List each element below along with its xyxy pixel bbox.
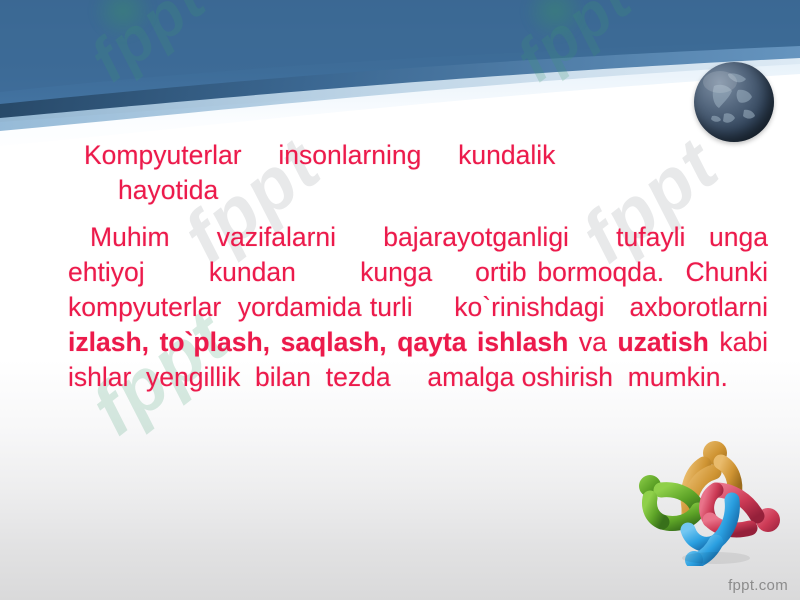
body-paragraph: Muhim vazifalarni bajarayotganligi tufay… — [68, 220, 768, 395]
heading-line-1: Kompyuterlar insonlarning kundalik — [84, 140, 555, 170]
heading-line-2: hayotida — [68, 173, 768, 208]
slide-body-text: Kompyuterlar insonlarning kundalikhayoti… — [68, 138, 768, 395]
body-segment-2: va — [568, 327, 617, 357]
body-bold-2: uzatish — [618, 327, 709, 357]
body-segment-1: Muhim vazifalarni bajarayotganligi tufay… — [68, 222, 800, 322]
fppt-watermark: fppt.com — [728, 577, 788, 594]
body-bold-1: izlash, to`plash, saqlash, qayta ishlash — [68, 327, 568, 357]
heading-paragraph: Kompyuterlar insonlarning kundalikhayoti… — [68, 138, 768, 208]
globe-icon — [694, 62, 774, 142]
slide-header-banner — [0, 0, 800, 160]
interlocking-people-logo — [636, 438, 784, 566]
logo-figure-red — [707, 490, 780, 532]
presentation-slide: fppt fppt fppt fppt fppt Kompyuterlar in… — [0, 0, 800, 600]
banner-wave-graphic — [0, 0, 800, 160]
